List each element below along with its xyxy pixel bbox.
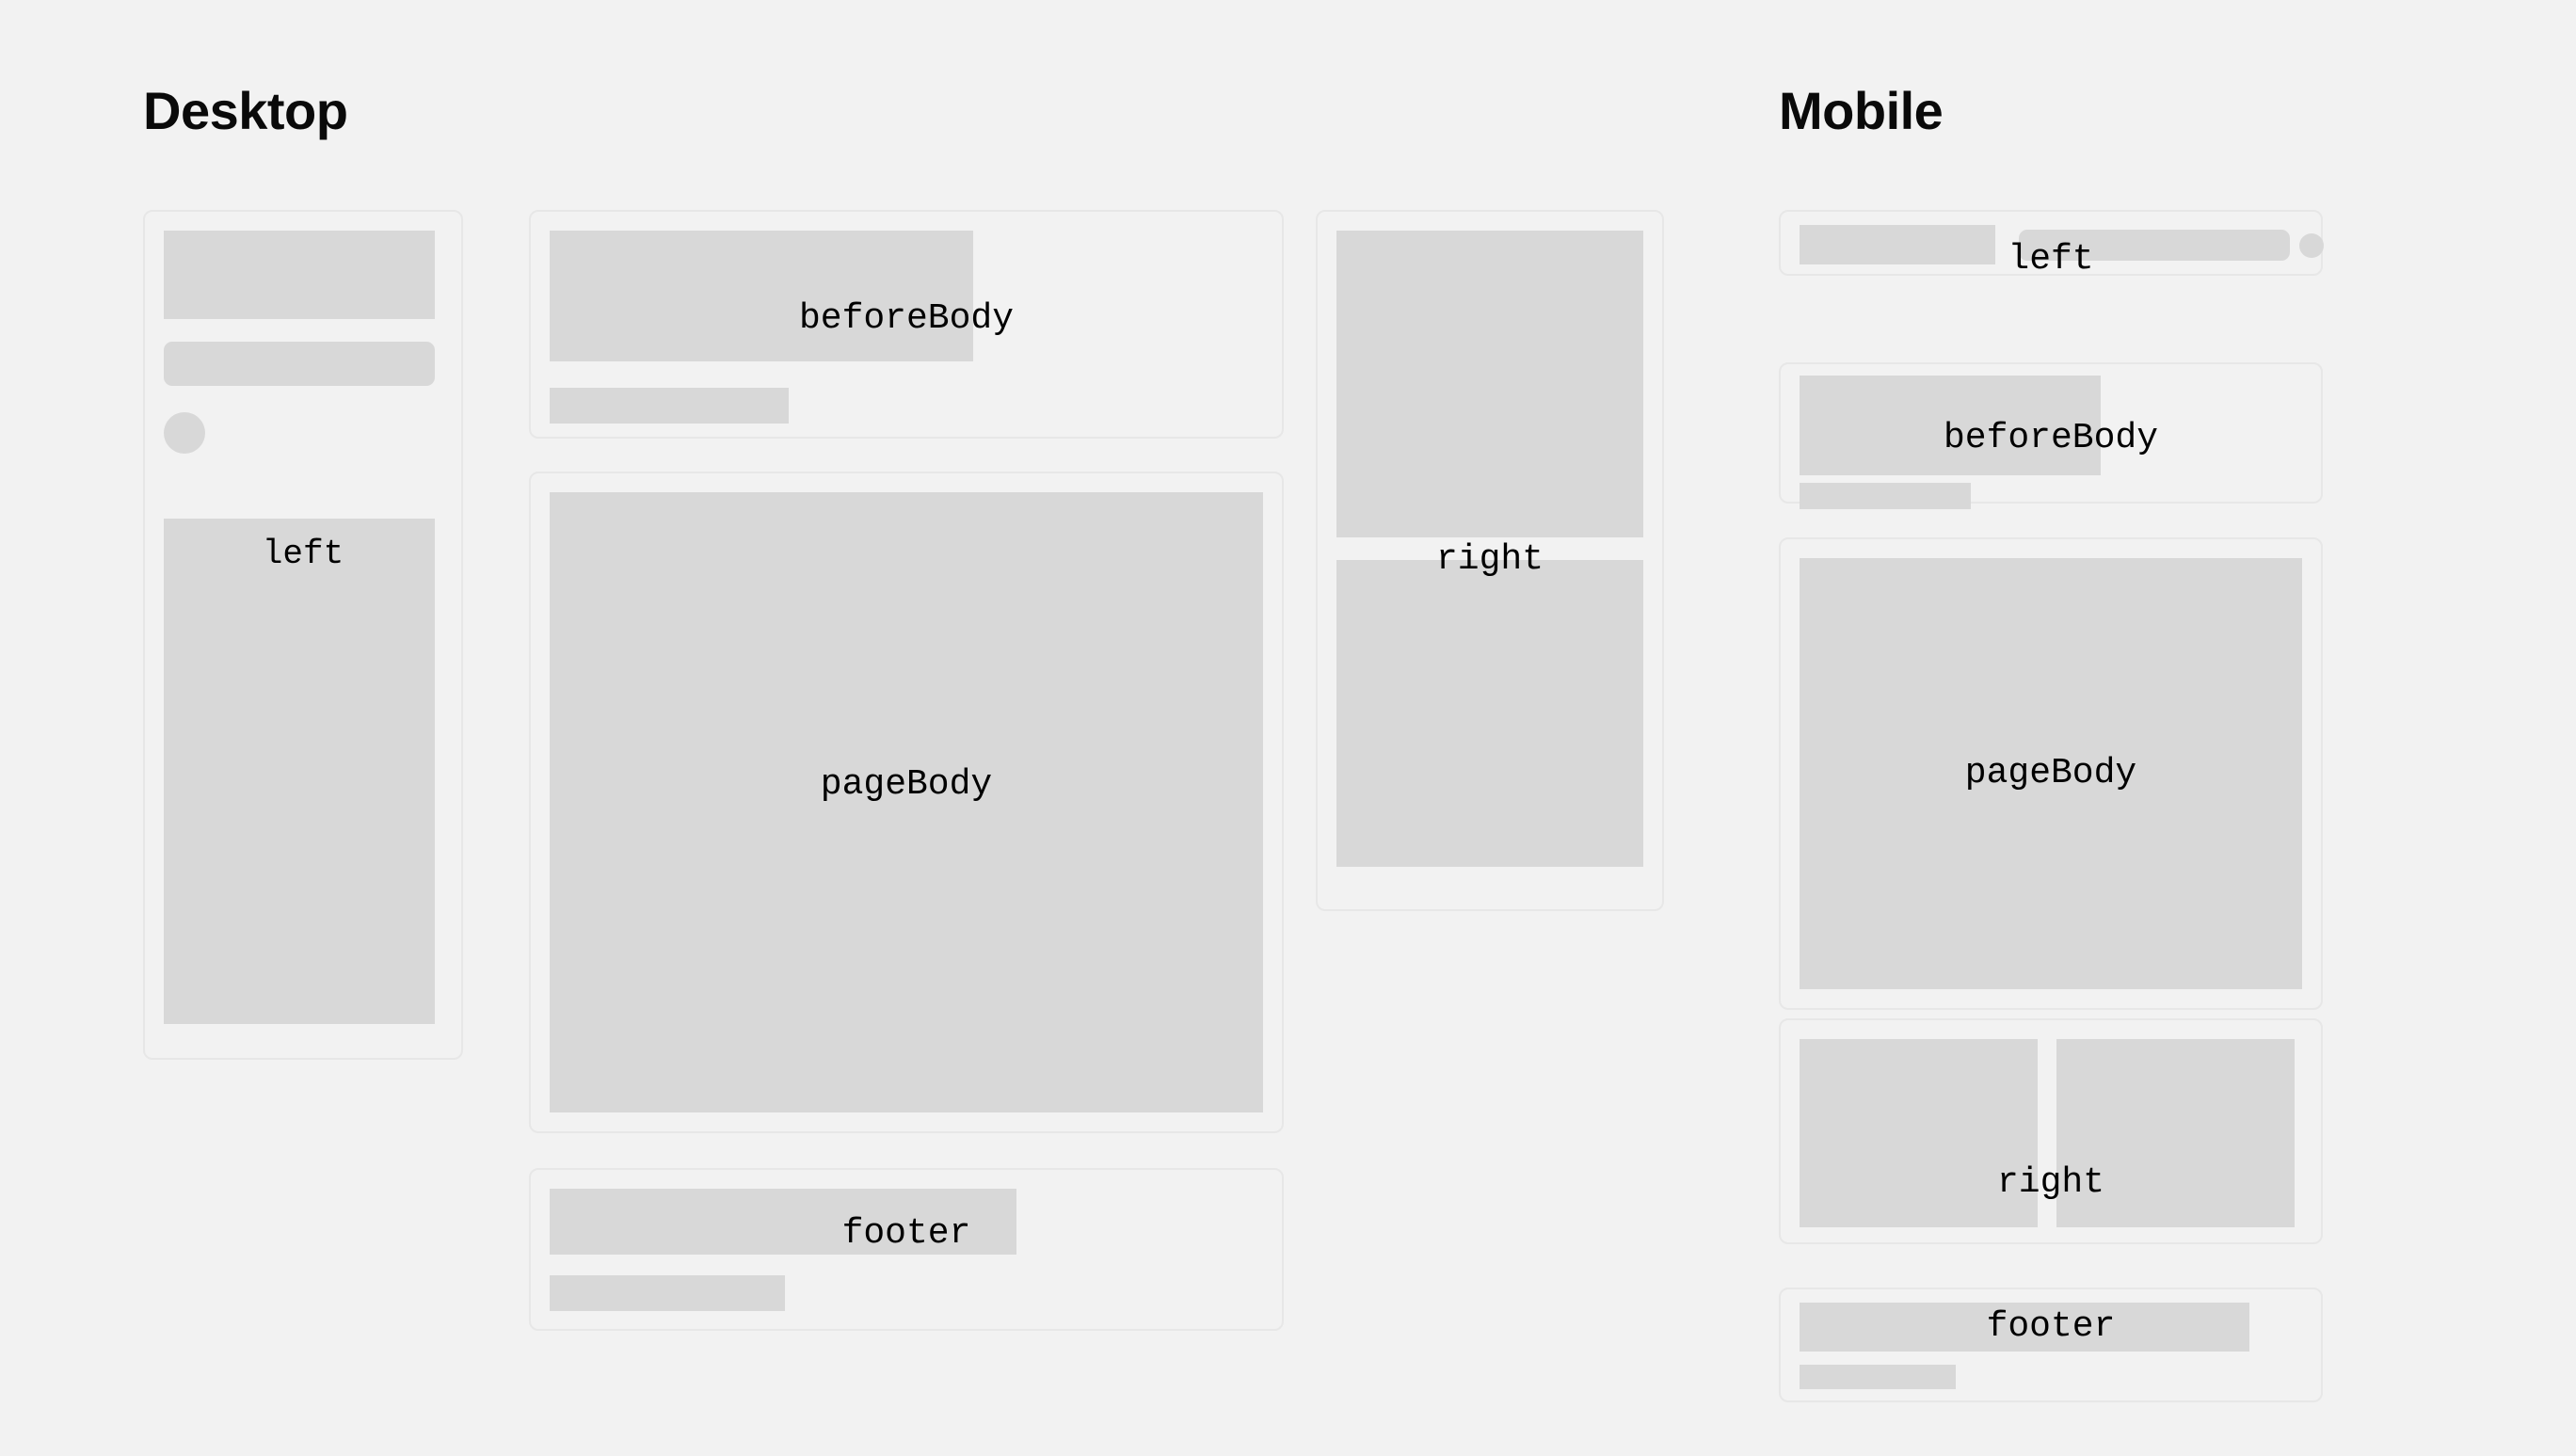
desktop-right-region-panel[interactable] <box>1316 210 1664 911</box>
desktop-left-region-panel[interactable] <box>143 210 463 1060</box>
skeleton-block-pill <box>2019 230 2290 261</box>
skeleton-block-col-right <box>2056 1039 2295 1227</box>
skeleton-block-fill <box>1800 558 2302 989</box>
desktop-beforebody-region-panel[interactable] <box>529 210 1284 439</box>
skeleton-block-small <box>550 388 789 424</box>
skeleton-block-wide <box>550 1189 1016 1255</box>
skeleton-block-small <box>1800 483 1971 509</box>
skeleton-block-col-left <box>1800 1039 2038 1227</box>
desktop-section-heading: Desktop <box>143 85 347 137</box>
skeleton-block-rect <box>1800 225 1995 264</box>
mobile-section-heading: Mobile <box>1779 85 1943 137</box>
skeleton-block-fill <box>550 492 1263 1112</box>
desktop-footer-region-panel[interactable] <box>529 1168 1284 1331</box>
mobile-left-region-panel[interactable] <box>1779 210 2323 276</box>
skeleton-block-small <box>1800 1365 1956 1389</box>
mobile-beforebody-region-panel[interactable] <box>1779 362 2323 504</box>
wireframe-canvas: Desktop left beforeBody pageBody footer … <box>0 0 2576 1456</box>
skeleton-block-square-top <box>1336 231 1643 537</box>
avatar-circle-icon <box>2299 233 2324 258</box>
skeleton-block-tall <box>164 519 435 1024</box>
skeleton-block-large <box>550 231 973 361</box>
mobile-footer-region-panel[interactable] <box>1779 1288 2323 1402</box>
desktop-pagebody-region-panel[interactable] <box>529 472 1284 1133</box>
skeleton-block-large <box>164 231 435 319</box>
avatar-circle-icon <box>164 412 205 454</box>
skeleton-block-square-bottom <box>1336 560 1643 867</box>
skeleton-block-medium <box>164 342 435 386</box>
skeleton-block-small <box>550 1275 785 1311</box>
skeleton-block-large <box>1800 376 2101 475</box>
mobile-pagebody-region-panel[interactable] <box>1779 537 2323 1010</box>
skeleton-block-wide <box>1800 1303 2249 1352</box>
mobile-right-region-panel[interactable] <box>1779 1018 2323 1244</box>
